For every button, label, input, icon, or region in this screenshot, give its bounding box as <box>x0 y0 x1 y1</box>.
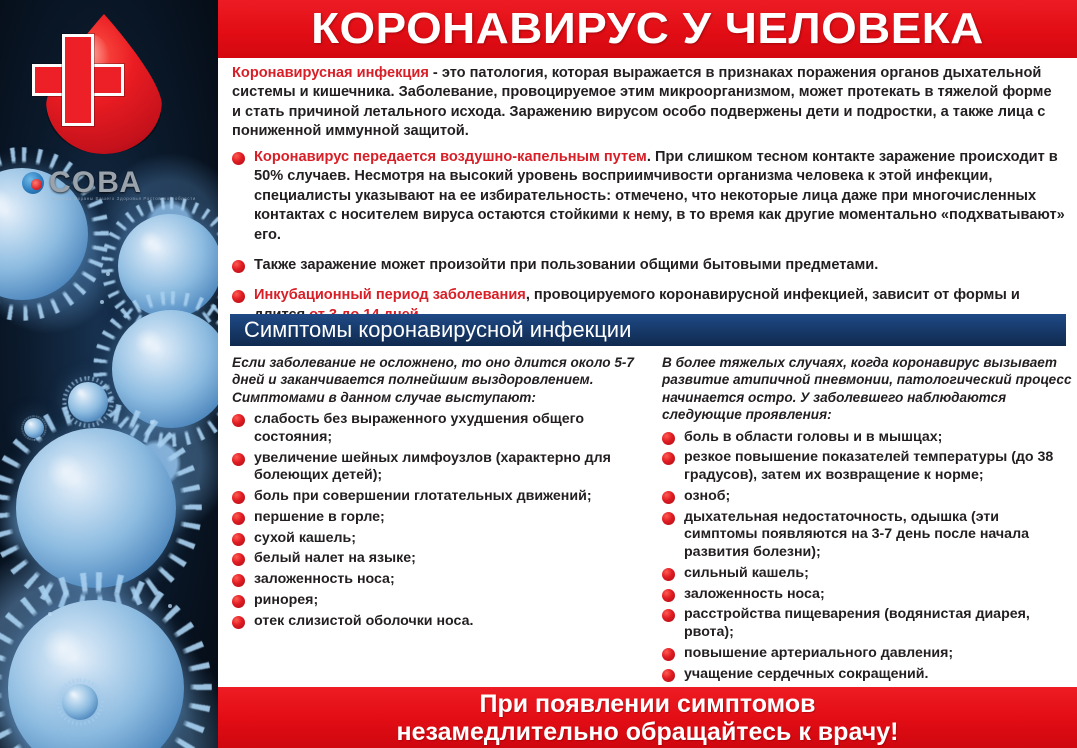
virus-particle-icon <box>8 600 184 748</box>
list-item: заложенность носа; <box>232 571 642 589</box>
bullet-icon <box>662 609 675 622</box>
symptom-text: заложенность носа; <box>684 586 1072 604</box>
bullet-icon <box>232 453 245 466</box>
bullet-icon <box>232 616 245 629</box>
virus-particle-icon <box>68 382 108 422</box>
list-item: боль при совершении глотательных движени… <box>232 488 642 506</box>
symptoms-section-header: Симптомы коронавирусной инфекции <box>230 314 1066 346</box>
symptom-column-mild: Если заболевание не осложнено, то оно дл… <box>232 354 642 686</box>
bullet-icon <box>232 491 245 504</box>
list-item: учащение сердечных сокращений. <box>662 666 1072 684</box>
virus-particle-icon <box>24 418 44 438</box>
fact-body: Также заражение может произойти при поль… <box>254 257 878 273</box>
fact-text: Также заражение может произойти при поль… <box>254 256 1068 275</box>
bullet-icon <box>662 452 675 465</box>
symptom-text: першение в горле; <box>254 509 642 527</box>
symptom-text: резкое повышение показателей температуры… <box>684 449 1072 485</box>
list-item: заложенность носа; <box>662 586 1072 604</box>
symptom-columns: Если заболевание не осложнено, то оно дл… <box>232 354 1072 686</box>
virus-particle-icon <box>16 428 176 588</box>
list-item: дыхательная недостаточность, одышка (эти… <box>662 509 1072 562</box>
symptom-text: увеличение шейных лимфоузлов (характерно… <box>254 450 642 486</box>
symptom-text: отек слизистой оболочки носа. <box>254 613 642 631</box>
intro-text: Коронавирусная инфекция - это патология,… <box>232 64 1064 142</box>
column-intro-text: В более тяжелых случаях, когда коронавир… <box>662 354 1072 424</box>
symptom-text: боль в области головы и в мышцах; <box>684 429 1072 447</box>
list-item: слабость без выраженного ухудшения общег… <box>232 411 642 447</box>
list-item: увеличение шейных лимфоузлов (характерно… <box>232 450 642 486</box>
bullet-icon <box>662 589 675 602</box>
bullet-icon <box>662 432 675 445</box>
coronavirus-infographic-poster: СОВА Служба Охраны Вашего Здоровья Росто… <box>0 0 1077 748</box>
list-item: резкое повышение показателей температуры… <box>662 449 1072 485</box>
symptom-text: сильный кашель; <box>684 565 1072 583</box>
speck-dot-icon <box>150 420 154 424</box>
intro-lead: Коронавирусная инфекция <box>232 65 429 81</box>
bullet-icon <box>232 512 245 525</box>
column-intro-text: Если заболевание не осложнено, то оно дл… <box>232 354 642 406</box>
bullet-icon <box>662 568 675 581</box>
virus-illustration-sidebar: СОВА Служба Охраны Вашего Здоровья Росто… <box>0 0 218 748</box>
list-item: ринорея; <box>232 592 642 610</box>
bullet-icon <box>232 553 245 566</box>
speck-dot-icon <box>168 604 172 608</box>
symptom-text: повышение артериального давления; <box>684 645 1072 663</box>
fact-item: Также заражение может произойти при поль… <box>232 256 1068 275</box>
list-item: озноб; <box>662 488 1072 506</box>
cross-center-fill <box>65 67 91 93</box>
fact-item: Коронавирус передается воздушно-капельны… <box>232 148 1068 245</box>
virus-particle-icon <box>62 684 98 720</box>
list-item: повышение артериального давления; <box>662 645 1072 663</box>
bullet-icon <box>662 669 675 682</box>
bullet-icon <box>232 152 245 165</box>
sova-logo: СОВА <box>22 168 143 198</box>
list-item: расстройства пищеварения (водянистая диа… <box>662 606 1072 642</box>
symptom-text: боль при совершении глотательных движени… <box>254 488 642 506</box>
bullet-icon <box>662 491 675 504</box>
title-banner: КОРОНАВИРУС У ЧЕЛОВЕКА <box>218 0 1077 58</box>
bullet-icon <box>232 533 245 546</box>
speck-dot-icon <box>100 300 104 304</box>
transmission-facts-list: Коронавирус передается воздушно-капельны… <box>232 148 1068 336</box>
fact-lead: Коронавирус передается воздушно-капельны… <box>254 149 647 165</box>
symptom-text: слабость без выраженного ухудшения общег… <box>254 411 642 447</box>
bullet-icon <box>232 260 245 273</box>
blood-drop-cross-icon <box>28 8 176 166</box>
symptom-text: ринорея; <box>254 592 642 610</box>
medical-cross-icon <box>32 34 124 126</box>
symptom-column-severe: В более тяжелых случаях, когда коронавир… <box>662 354 1072 686</box>
fact-lead: Инкубационный период заболевания <box>254 287 526 303</box>
symptom-text: белый налет на языке; <box>254 550 642 568</box>
symptom-text: расстройства пищеварения (водянистая диа… <box>684 606 1072 642</box>
symptom-list-severe: боль в области головы и в мышцах; резкое… <box>662 429 1072 684</box>
list-item: сухой кашель; <box>232 530 642 548</box>
symptom-text: озноб; <box>684 488 1072 506</box>
symptom-text: заложенность носа; <box>254 571 642 589</box>
fact-text: Коронавирус передается воздушно-капельны… <box>254 148 1068 245</box>
bullet-icon <box>232 574 245 587</box>
sova-mark-icon <box>22 172 44 194</box>
symptom-text: дыхательная недостаточность, одышка (эти… <box>684 509 1072 562</box>
symptom-list-mild: слабость без выраженного ухудшения общег… <box>232 411 642 630</box>
call-to-action-banner: При появлении симптомов незамедлительно … <box>218 687 1077 748</box>
cta-line-2: незамедлительно обращайтесь к врачу! <box>397 718 899 746</box>
list-item: белый налет на языке; <box>232 550 642 568</box>
bullet-icon <box>662 648 675 661</box>
list-item: отек слизистой оболочки носа. <box>232 613 642 631</box>
sova-logo-text: СОВА <box>49 168 143 198</box>
symptom-text: сухой кашель; <box>254 530 642 548</box>
speck-dot-icon <box>48 612 52 616</box>
poster-content: КОРОНАВИРУС У ЧЕЛОВЕКА Коронавирусная ин… <box>218 0 1077 748</box>
page-title: КОРОНАВИРУС У ЧЕЛОВЕКА <box>311 7 984 51</box>
bullet-icon <box>232 414 245 427</box>
bullet-icon <box>232 290 245 303</box>
list-item: першение в горле; <box>232 509 642 527</box>
list-item: сильный кашель; <box>662 565 1072 583</box>
list-item: боль в области головы и в мышцах; <box>662 429 1072 447</box>
section-title: Симптомы коронавирусной инфекции <box>244 319 631 341</box>
intro-paragraph: Коронавирусная инфекция - это патология,… <box>232 64 1064 142</box>
symptom-text: учащение сердечных сокращений. <box>684 666 1072 684</box>
cta-line-1: При появлении симптомов <box>480 690 816 718</box>
speck-dot-icon <box>106 272 110 276</box>
sova-logo-tagline: Служба Охраны Вашего Здоровья Ростовской… <box>52 196 196 201</box>
bullet-icon <box>662 512 675 525</box>
bullet-icon <box>232 595 245 608</box>
